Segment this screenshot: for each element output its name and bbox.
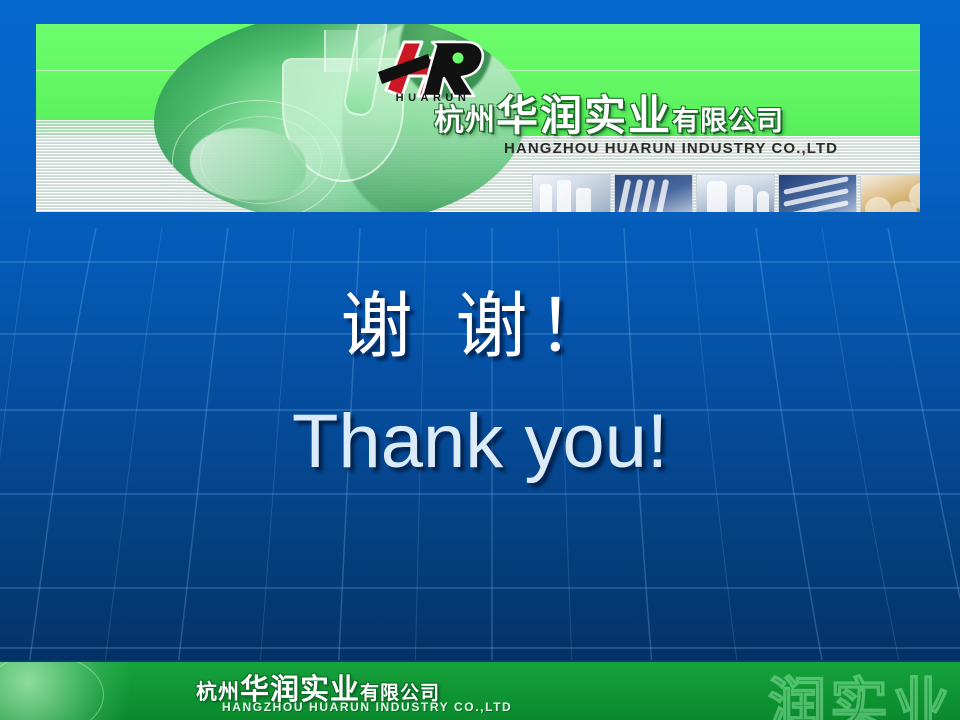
- gloved-hand-shape: [190, 128, 306, 200]
- banner-company-name-en: HANGZHOU HUARUN INDUSTRY CO.,LTD: [504, 140, 838, 157]
- footer-band: 润实业 杭州华润实业有限公司 HANGZHOU HUARUN INDUSTRY …: [0, 660, 960, 720]
- product-photo-syringes-blue: [614, 174, 693, 212]
- header-banner: HUARUN 杭州华润实业有限公司 HANGZHOU HUARUN INDUST…: [36, 24, 920, 212]
- presentation-slide: HUARUN 杭州华润实业有限公司 HANGZHOU HUARUN INDUST…: [0, 0, 960, 720]
- footer-sphere-ring: [0, 660, 104, 720]
- product-photo-amber-jars: [860, 174, 920, 212]
- footer-watermark-text: 润实业: [768, 660, 954, 720]
- thanks-chinese-text: 谢 谢！: [0, 290, 960, 362]
- banner-company-name-cn: 杭州华润实业有限公司: [434, 82, 784, 143]
- product-photo-dropper-bottles: [696, 174, 775, 212]
- product-photo-prefilled-syringes: [778, 174, 857, 212]
- banner-company-main: 华润实业: [496, 91, 672, 140]
- footer-company-name-en: HANGZHOU HUARUN INDUSTRY CO.,LTD: [222, 700, 512, 714]
- product-photo-spray-bottles: [532, 174, 611, 212]
- banner-company-prefix: 杭州: [434, 103, 496, 138]
- banner-company-suffix: 有限公司: [672, 106, 784, 137]
- product-photo-strip: [532, 174, 920, 212]
- thanks-english-text: Thank you!: [0, 404, 960, 480]
